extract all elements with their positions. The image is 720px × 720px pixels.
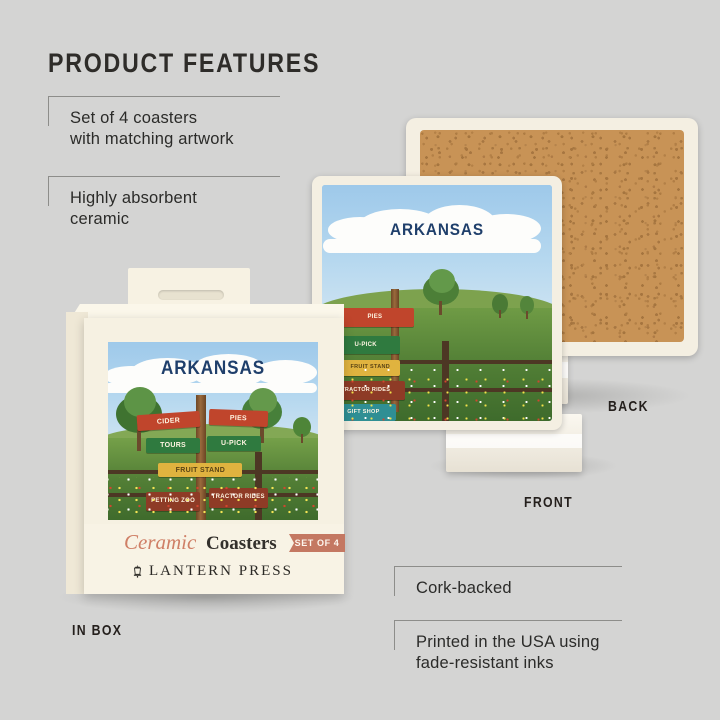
sign-fruit-stand: FRUIT STAND — [158, 463, 242, 477]
sign-pies: PIES — [209, 409, 268, 427]
feature-rule-top — [48, 176, 280, 177]
artwork-title: ARKANSAS — [334, 220, 541, 240]
riser-lip — [446, 434, 582, 448]
feature-rule-left — [394, 566, 395, 596]
box-branding-area: Ceramic Coasters LANTERN PRESS SET OF 4 — [84, 524, 344, 594]
brand-publisher: LANTERN PRESS — [149, 563, 293, 580]
artwork-middle: ARKANSAS PIES U-PICK FRUIT STAND — [322, 185, 552, 421]
caption-in-box: IN BOX — [72, 622, 122, 639]
feature-rule-left — [48, 96, 49, 126]
feature-rule-left — [394, 620, 395, 650]
sign-u-pick: U-PICK — [207, 436, 262, 451]
feature-rule-left — [48, 176, 49, 206]
feature-text: Highly absorbent ceramic — [70, 188, 197, 230]
page-title: PRODUCT FEATURES — [48, 48, 320, 79]
caption-back: BACK — [608, 398, 649, 415]
set-of-4-badge: SET OF 4 — [289, 534, 345, 552]
feature-rule-top — [394, 620, 622, 621]
artwork-title: ARKANSAS — [119, 358, 308, 380]
feature-rule-top — [48, 96, 280, 97]
caption-front: FRONT — [524, 494, 573, 511]
brand-script-word: Ceramic — [124, 530, 196, 555]
product-box: ARKANSAS — [66, 268, 356, 594]
feature-rule-top — [394, 566, 622, 567]
box-hang-tab — [128, 268, 250, 310]
wildflowers — [108, 477, 318, 520]
feature-text: Printed in the USA using fade-resistant … — [416, 632, 600, 674]
box-front-face: ARKANSAS — [84, 318, 344, 594]
feature-text: Set of 4 coasters with matching artwork — [70, 108, 234, 150]
box-hang-slot — [158, 290, 224, 300]
sign-tours: TOURS — [146, 438, 201, 453]
artwork-front: ARKANSAS — [108, 342, 318, 520]
wildflowers — [322, 369, 552, 421]
product-feature-sheet: PRODUCT FEATURES Set of 4 coasters with … — [0, 0, 720, 720]
lantern-icon — [132, 565, 143, 578]
brand-serif-word: Coasters — [206, 533, 277, 555]
feature-text: Cork-backed — [416, 578, 512, 599]
